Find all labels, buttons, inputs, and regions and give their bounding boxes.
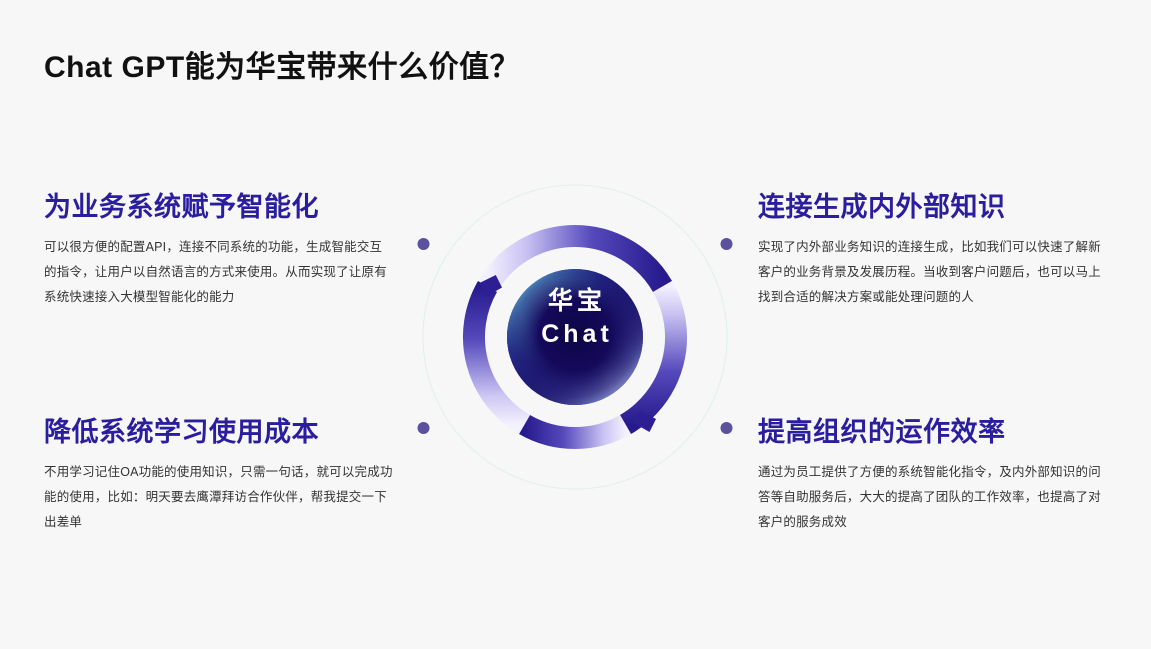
value-block-heading: 连接生成内外部知识 bbox=[758, 192, 1108, 223]
orbit-dot-bottom-right bbox=[721, 422, 733, 434]
center-graphic: 华宝 Chat bbox=[399, 161, 751, 513]
value-block-top-right: 连接生成内外部知识 实现了内外部业务知识的连接生成，比如我们可以快速了解新客户的… bbox=[758, 192, 1108, 310]
value-block-body: 实现了内外部业务知识的连接生成，比如我们可以快速了解新客户的业务背景及发展历程。… bbox=[758, 235, 1108, 310]
core-sphere bbox=[507, 269, 643, 405]
value-block-body: 通过为员工提供了方便的系统智能化指令，及内外部知识的问答等自助服务后，大大的提高… bbox=[758, 460, 1108, 535]
orbit-dot-top-left bbox=[418, 238, 430, 250]
value-block-heading: 为业务系统赋予智能化 bbox=[44, 192, 394, 223]
value-block-heading: 提高组织的运作效率 bbox=[758, 417, 1108, 448]
value-block-body: 不用学习记住OA功能的使用知识，只需一句话，就可以完成功能的使用，比如：明天要去… bbox=[44, 460, 394, 535]
ring-arc-bottom bbox=[525, 425, 626, 439]
value-block-top-left: 为业务系统赋予智能化 可以很方便的配置API，连接不同系统的功能，生成智能交互的… bbox=[44, 192, 394, 310]
value-block-bottom-right: 提高组织的运作效率 通过为员工提供了方便的系统智能化指令，及内外部知识的问答等自… bbox=[758, 417, 1108, 535]
orbit-dot-bottom-left bbox=[418, 422, 430, 434]
orbit-dot-top-right bbox=[721, 238, 733, 250]
slide-root: Chat GPT能为华宝带来什么价值？ 为业务系统赋予智能化 可以很方便的配置A… bbox=[0, 0, 1151, 649]
page-title: Chat GPT能为华宝带来什么价值？ bbox=[44, 42, 520, 86]
value-block-bottom-left: 降低系统学习使用成本 不用学习记住OA功能的使用知识，只需一句话，就可以完成功能… bbox=[44, 417, 394, 535]
value-block-heading: 降低系统学习使用成本 bbox=[44, 417, 394, 448]
value-block-body: 可以很方便的配置API，连接不同系统的功能，生成智能交互的指令，让用户以自然语言… bbox=[44, 235, 394, 310]
